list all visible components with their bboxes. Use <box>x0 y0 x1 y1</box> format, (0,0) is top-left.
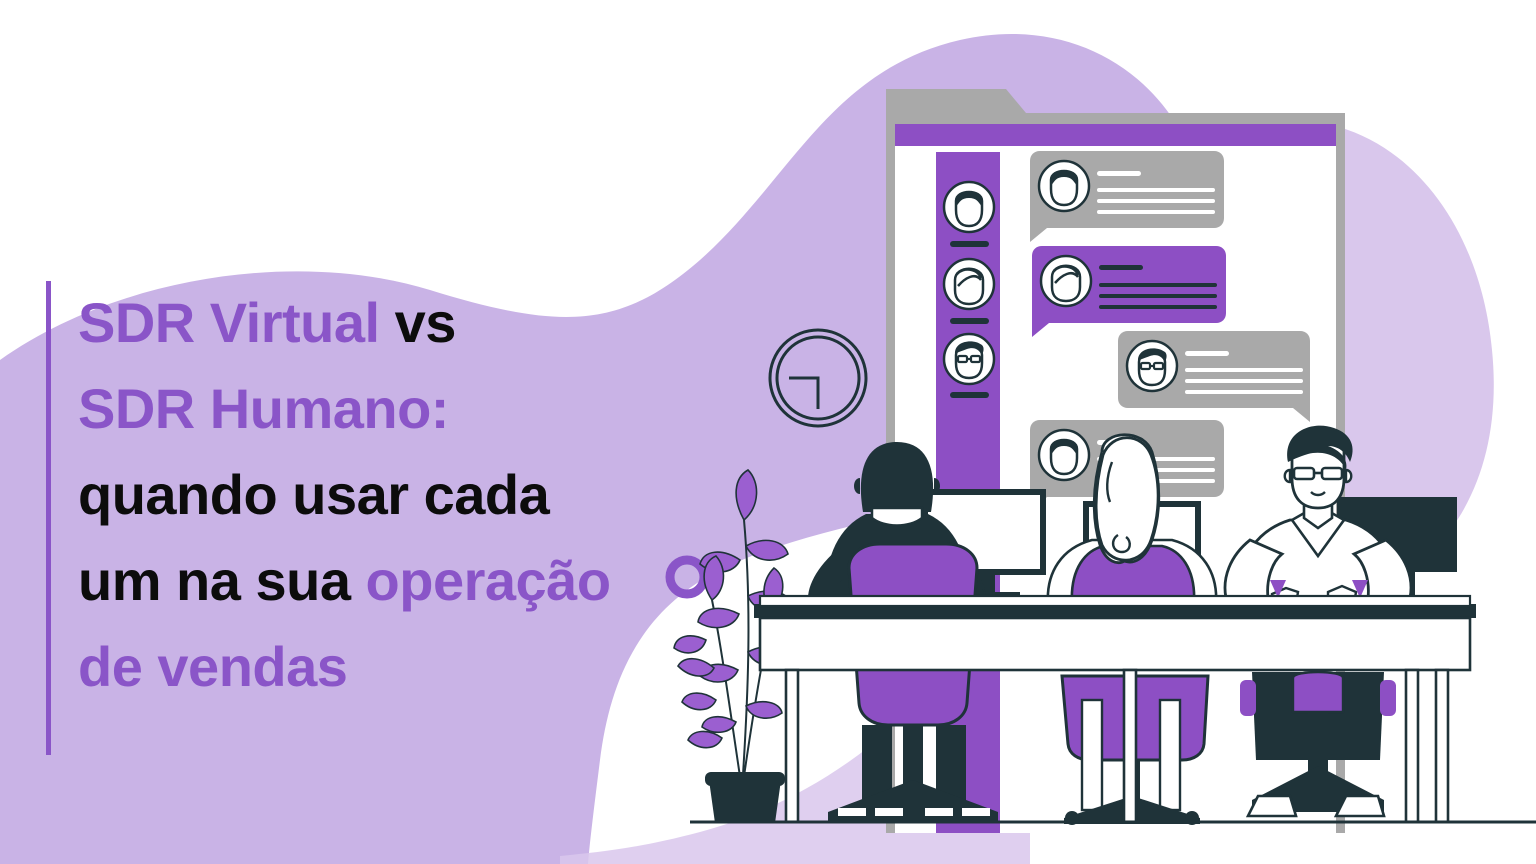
worker-3-ear-r <box>1346 470 1351 482</box>
msg-title-line <box>1099 265 1143 270</box>
banner-canvas: SDR Virtual vs SDR Humano: quando usar c… <box>0 0 1536 864</box>
desk-leg-mid <box>1124 670 1136 822</box>
contact-name-placeholder <box>950 241 989 247</box>
desk-leg-left <box>786 670 798 822</box>
msg-body-line <box>1097 210 1215 214</box>
msg-body-line <box>1185 368 1303 372</box>
worker-1-collar <box>872 508 922 526</box>
msg-body-line <box>1099 305 1217 309</box>
worker-3-chair-cushion <box>1293 672 1343 712</box>
msg-body-line <box>1185 379 1303 383</box>
contact-name-placeholder <box>950 318 989 324</box>
msg-body-line <box>1099 294 1217 298</box>
msg-body-line <box>1097 199 1215 203</box>
msg-body-line <box>1099 283 1217 287</box>
window-title-bar[interactable] <box>895 124 1336 146</box>
wall-clock <box>770 330 866 426</box>
desk-leg-right-b <box>1436 670 1448 822</box>
desk-leg-right-a <box>1406 670 1418 822</box>
worker-3-chair-arm-l <box>1240 680 1256 716</box>
desk-apron <box>760 618 1470 670</box>
team-chat-office-illustration <box>0 0 1536 864</box>
msg-title-line <box>1185 351 1229 356</box>
purple-ring-shape <box>670 560 704 594</box>
worker-2-leg-l <box>1082 700 1102 810</box>
contact-name-placeholder <box>950 392 989 398</box>
plant-pot-rim <box>705 772 785 786</box>
desk-under-shelf <box>760 596 1470 606</box>
worker-1-head <box>861 442 933 512</box>
plant-pot <box>709 780 781 823</box>
msg-body-line <box>1097 188 1215 192</box>
msg-title-line <box>1097 171 1141 176</box>
worker-1-ear-l <box>854 478 860 494</box>
msg-body-line <box>1185 390 1303 394</box>
worker-3-chair-arm-r <box>1380 680 1396 716</box>
worker-2-leg-r <box>1160 700 1180 810</box>
worker-3-ear-l <box>1285 470 1290 482</box>
